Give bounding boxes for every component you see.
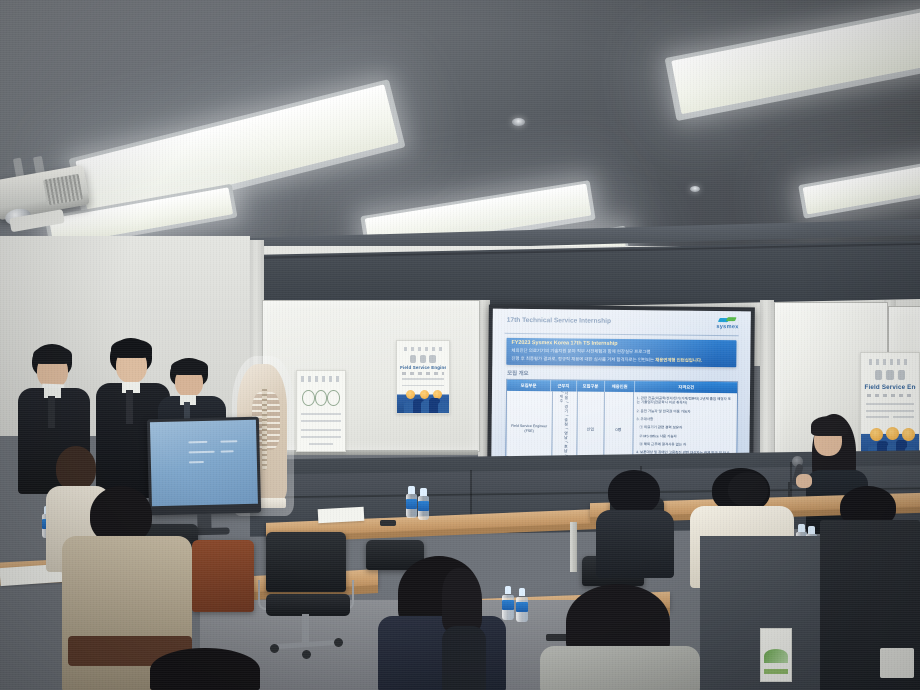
requirement-item: 2. 운전 가능자 및 전국권 이동 가능자 [637,409,691,414]
slide-header-title: 17th Technical Service Internship [507,317,611,325]
banner-heading: FY2023 Sysmex Korea 17th TS Internship [511,340,617,347]
water-bottle [516,588,528,622]
hair-front [33,346,72,364]
hair [608,470,660,514]
poster-title: Field Service Engineer [400,365,446,370]
table-header-cell: 채용인원 [605,381,635,392]
torso [442,626,486,690]
poster-whiteboard-fse: Field Service Engineer [396,340,450,414]
requirement-item: ② MS Office 사용 가능자 [639,434,677,439]
wooden-chair [192,540,254,612]
poster-icon-row [408,355,437,363]
photo-scene: Field Service Engineer Field Service Eng… [0,0,920,690]
office-chair [250,532,360,662]
poster-left-doc [296,370,346,452]
requirement-item: 3. 우대사항 [636,417,653,422]
hair-front [171,359,208,375]
audience-member [540,584,700,690]
hand [796,474,812,488]
table-header-cell: 모집구분 [577,381,605,392]
ceiling-spotlight [690,186,700,192]
water-bottle [406,486,417,518]
partition-label [760,628,792,682]
hair-front [111,339,152,358]
sysmex-logo-text: sysmex [716,324,738,330]
hair [56,446,96,490]
audience-member [140,648,290,690]
table-header-cell: 모집부문 [507,380,551,391]
slide-header-rule [505,333,739,336]
whiteboard-tray [262,450,478,455]
poster-icon-row [873,370,908,380]
requirement-item: ③ 해외 근무에 결격사유 없는 자 [639,442,686,447]
desk-box [880,648,914,678]
necktie [126,390,133,424]
banner-line-1: 체외진단 의료기기의 기술지원 분야 직무 사전체험과 함께 현장실무 프로그램 [511,348,650,355]
requirement-item: ① 의료기기 관련 경력 보유자 [639,426,682,431]
audience-member [724,472,774,530]
audience-member [442,568,486,690]
slide-section-label: 모집 개요 [507,369,528,377]
paper-document [318,507,365,523]
table-header-cell: 근무지 [551,380,577,391]
torso [540,646,700,690]
poster-title: Field Service Engineer [864,384,915,391]
hair [728,472,768,506]
water-bottle [418,488,429,520]
desk-item [380,520,396,526]
necktie [48,396,55,428]
requirement-item: 1. 관련 전공(의공학/전자/전기/기계/컴퓨터) 2년제 졸업 예정자 또는… [637,396,734,406]
sysmex-logo: sysmex [716,317,738,330]
banner-line-2-text: 진행 후 최종평가 결과로, 정규직 채용에 대한 심사를 거쳐 합격자로는 인… [511,355,655,362]
torso [596,510,674,578]
banner-line-2: 진행 후 최종평가 결과로, 정규직 채용에 대한 심사를 거쳐 합격자로는 인… [511,355,702,363]
label-bar [764,669,788,674]
hair [442,568,482,632]
hair-front [811,416,848,436]
poster-artwork [397,389,449,413]
circle-diagram-row [302,390,340,410]
audience-member [596,470,674,578]
ceiling-spotlight [512,118,525,126]
banner-line-2-emphasis: 채용연계형 인턴십입니다. [655,357,702,362]
presentation-slide: 17th Technical Service Internship sysmex… [491,309,751,476]
hair [150,648,260,690]
sysmex-logo-mark [719,317,736,323]
green-logo-icon [764,649,788,663]
slide-banner: FY2023 Sysmex Korea 17th TS Internship 체… [506,338,736,367]
